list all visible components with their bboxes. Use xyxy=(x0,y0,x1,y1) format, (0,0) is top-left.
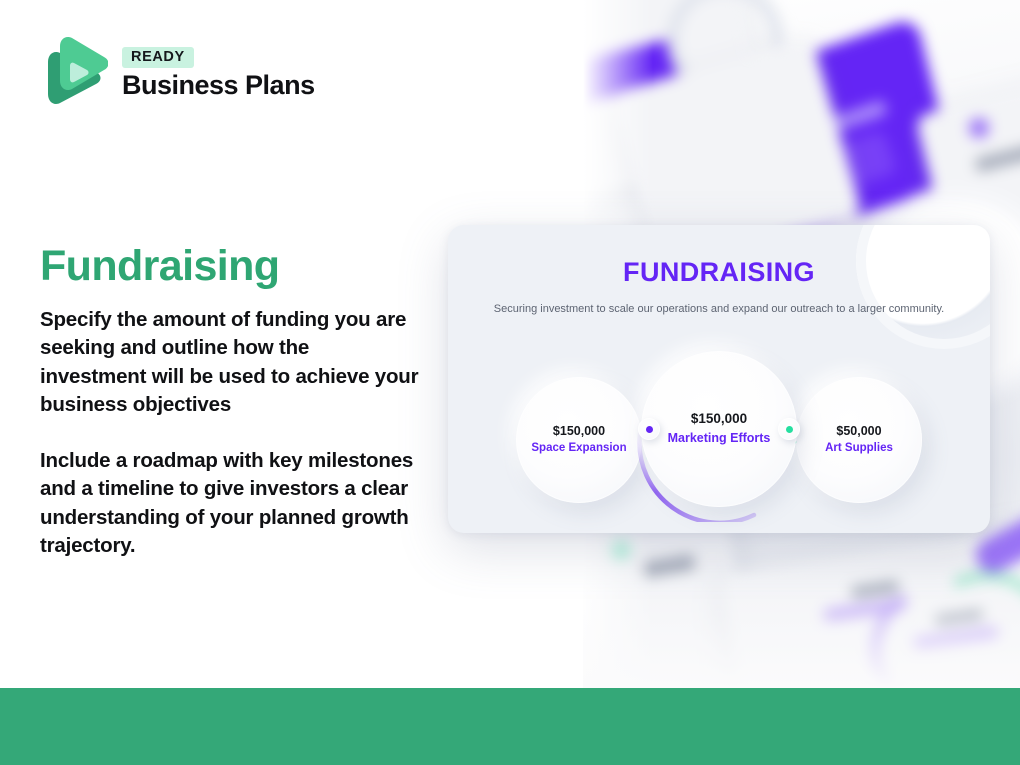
funding-amount: $150,000 xyxy=(691,411,747,428)
connector-dot-right xyxy=(778,418,800,440)
funding-label: Art Supplies xyxy=(825,441,893,456)
fundraising-card: FUNDRAISING Securing investment to scale… xyxy=(448,225,990,533)
footer-bar xyxy=(0,688,1020,765)
body-paragraph-2: Include a roadmap with key milestones an… xyxy=(40,447,420,560)
body-paragraph-1: Specify the amount of funding you are se… xyxy=(40,306,420,419)
connector-dot-purple-icon xyxy=(646,426,653,433)
connector-dot-green-icon xyxy=(786,426,793,433)
ready-badge: READY xyxy=(122,47,194,69)
card-title: FUNDRAISING xyxy=(448,257,990,288)
funding-node-space-expansion: $150,000 Space Expansion xyxy=(516,377,642,503)
brand-name: Business Plans xyxy=(122,71,315,99)
background-bottom-fade xyxy=(583,568,1020,688)
funding-amount: $150,000 xyxy=(553,424,605,440)
connector-dot-left xyxy=(638,418,660,440)
funding-label: Marketing Efforts xyxy=(668,430,771,446)
funding-label: Space Expansion xyxy=(531,441,626,456)
play-triangle-logo-icon xyxy=(40,36,108,110)
card-subtitle: Securing investment to scale our operati… xyxy=(448,302,990,318)
funding-amount: $50,000 xyxy=(836,424,881,440)
funding-node-art-supplies: $50,000 Art Supplies xyxy=(796,377,922,503)
funding-breakdown-diagram: $150,000 Space Expansion $150,000 Market… xyxy=(448,355,990,525)
funding-node-marketing-efforts: $150,000 Marketing Efforts xyxy=(641,351,797,507)
brand-wordmark: READY Business Plans xyxy=(122,47,315,100)
body-copy: Specify the amount of funding you are se… xyxy=(40,306,420,560)
bg-right-dot-purple xyxy=(969,118,989,138)
brand-logo: READY Business Plans xyxy=(40,36,315,110)
page-title: Fundraising xyxy=(40,245,279,288)
